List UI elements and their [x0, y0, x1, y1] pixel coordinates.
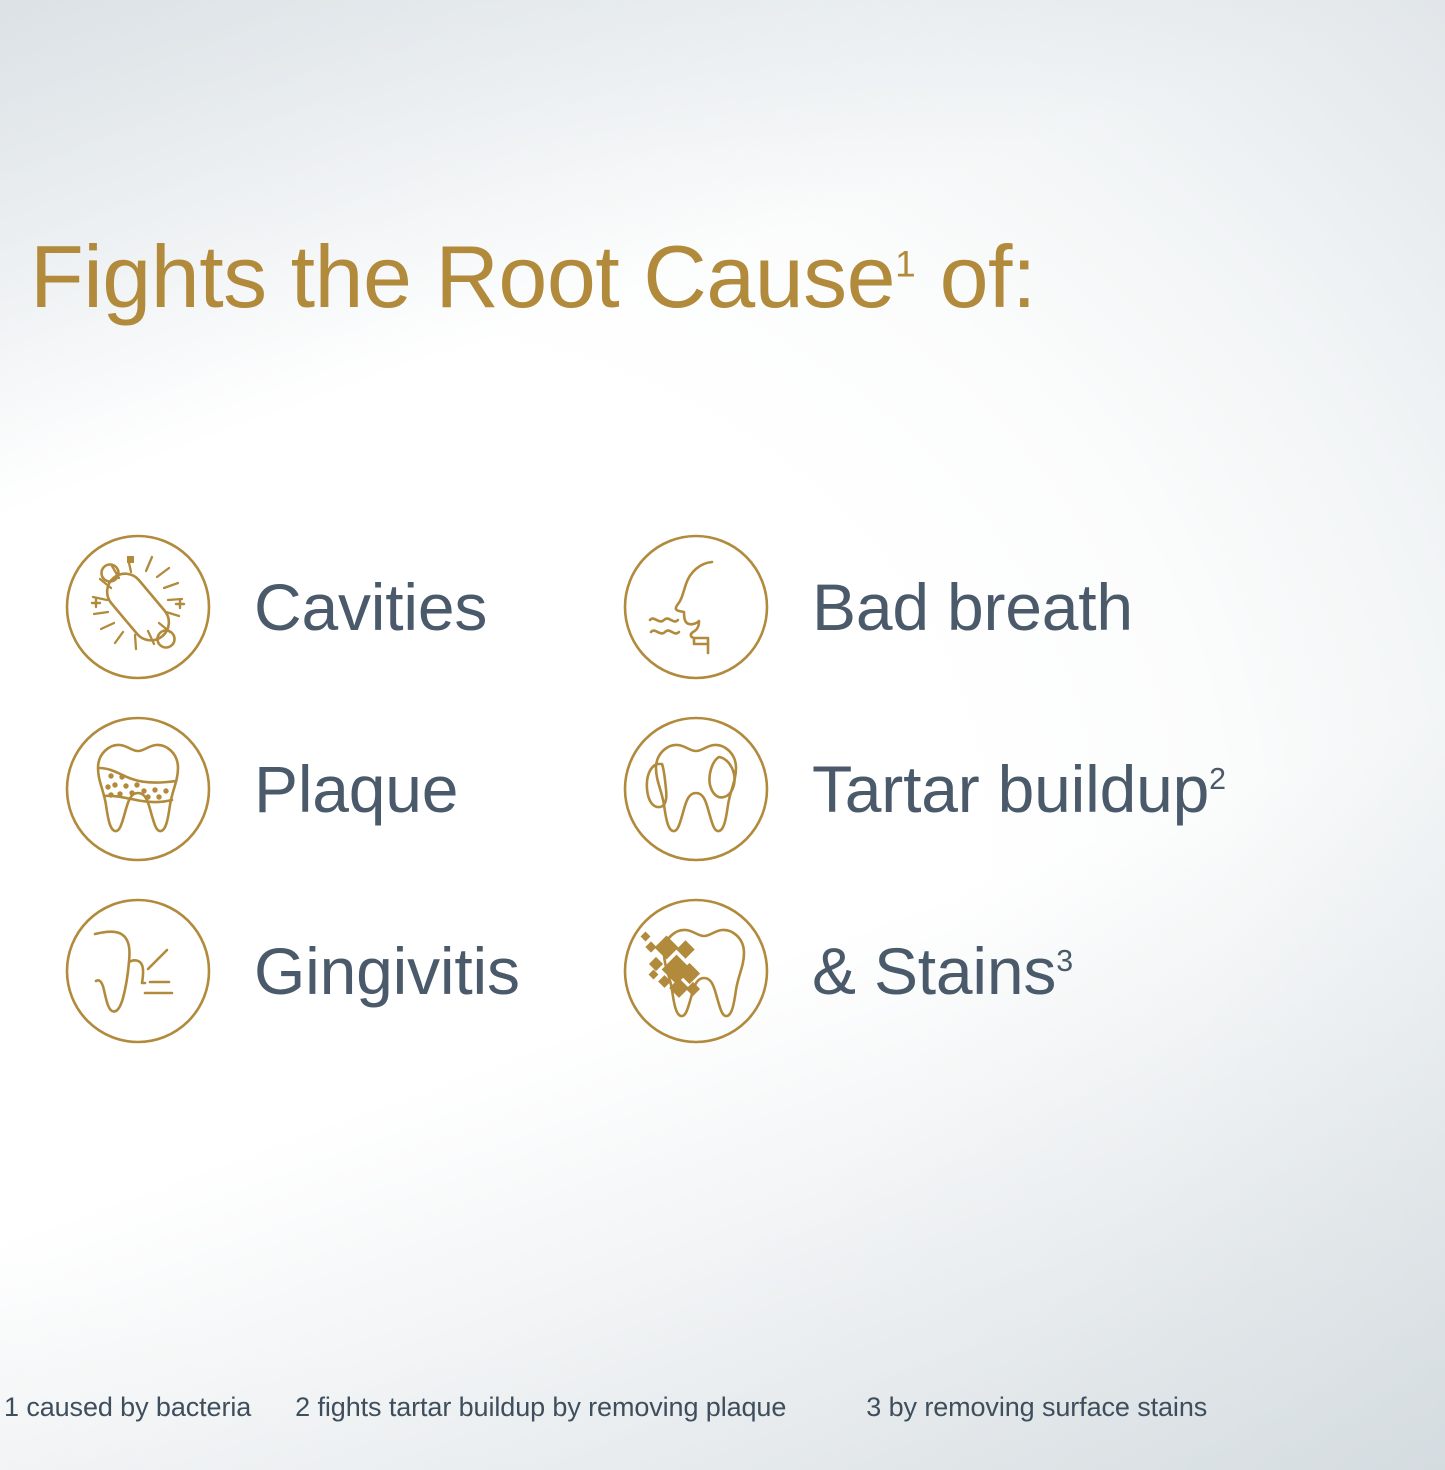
- infographic-page: Fights the Root Cause1 of:: [0, 0, 1445, 1470]
- footnote-3: 3 by removing surface stains: [866, 1392, 1207, 1423]
- benefit-item-plaque: Plaque: [0, 705, 610, 873]
- benefit-label-gingivitis: Gingivitis: [254, 938, 520, 1004]
- footnotes: 1 caused by bacteria 2 fights tartar bui…: [0, 1392, 1445, 1423]
- benefit-row: Gingivitis: [0, 887, 1445, 1069]
- bacteria-icon: [62, 531, 214, 683]
- tooth-tartar-icon: [620, 713, 772, 865]
- benefit-item-gingivitis: Gingivitis: [0, 887, 610, 1055]
- benefit-label-cavities: Cavities: [254, 574, 487, 640]
- benefit-label-superscript: 3: [1056, 945, 1073, 978]
- benefit-label-plaque: Plaque: [254, 756, 458, 822]
- benefit-item-bad-breath: Bad breath: [610, 523, 1310, 691]
- benefit-label-tartar-buildup: Tartar buildup2: [812, 756, 1226, 822]
- benefit-row: Cavities Bad: [0, 523, 1445, 705]
- tooth-gum-gingivitis-icon: [62, 895, 214, 1047]
- page-title-text: Fights the Root Cause: [30, 227, 895, 326]
- benefit-label-text: & Stains: [812, 934, 1056, 1008]
- benefit-row: Plaque Tartar buildup2: [0, 705, 1445, 887]
- benefit-label-text: Cavities: [254, 570, 487, 644]
- benefit-label-text: Gingivitis: [254, 934, 520, 1008]
- benefit-label-bad-breath: Bad breath: [812, 574, 1133, 640]
- benefit-label-stains: & Stains3: [812, 938, 1073, 1004]
- benefit-label-text: Tartar buildup: [812, 752, 1209, 826]
- page-title-tail: of:: [916, 227, 1036, 326]
- benefits-grid: Cavities Bad: [0, 523, 1445, 1069]
- benefit-label-superscript: 2: [1209, 763, 1226, 796]
- benefit-item-cavities: Cavities: [0, 523, 610, 691]
- footnote-1: 1 caused by bacteria: [4, 1392, 251, 1423]
- tooth-stains-icon: [620, 895, 772, 1047]
- benefit-label-text: Bad breath: [812, 570, 1133, 644]
- benefit-label-text: Plaque: [254, 752, 458, 826]
- page-title: Fights the Root Cause1 of:: [30, 233, 1036, 321]
- footnote-2: 2 fights tartar buildup by removing plaq…: [295, 1392, 786, 1423]
- benefit-item-stains: & Stains3: [610, 887, 1310, 1055]
- page-title-superscript: 1: [895, 244, 916, 285]
- face-bad-breath-icon: [620, 531, 772, 683]
- tooth-plaque-icon: [62, 713, 214, 865]
- benefit-item-tartar-buildup: Tartar buildup2: [610, 705, 1310, 873]
